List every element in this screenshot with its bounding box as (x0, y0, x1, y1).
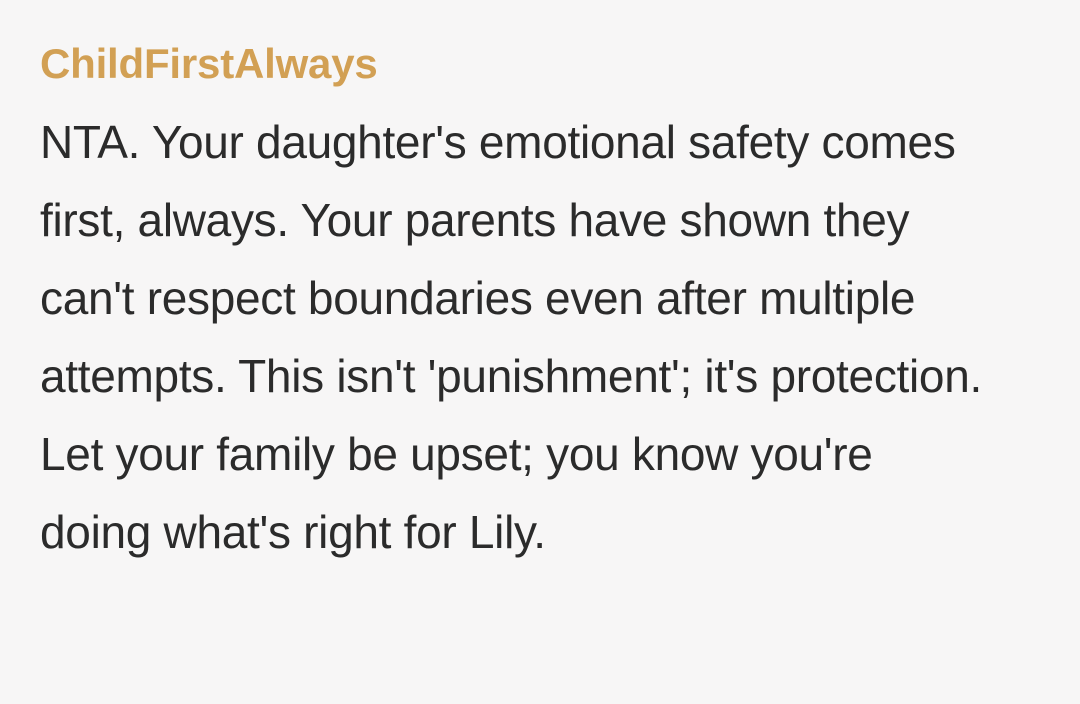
comment-author-username[interactable]: ChildFirstAlways (40, 40, 378, 87)
comment-body-text: NTA. Your daughter's emotional safety co… (40, 103, 992, 571)
comment-card: ChildFirstAlways NTA. Your daughter's em… (0, 0, 1080, 704)
